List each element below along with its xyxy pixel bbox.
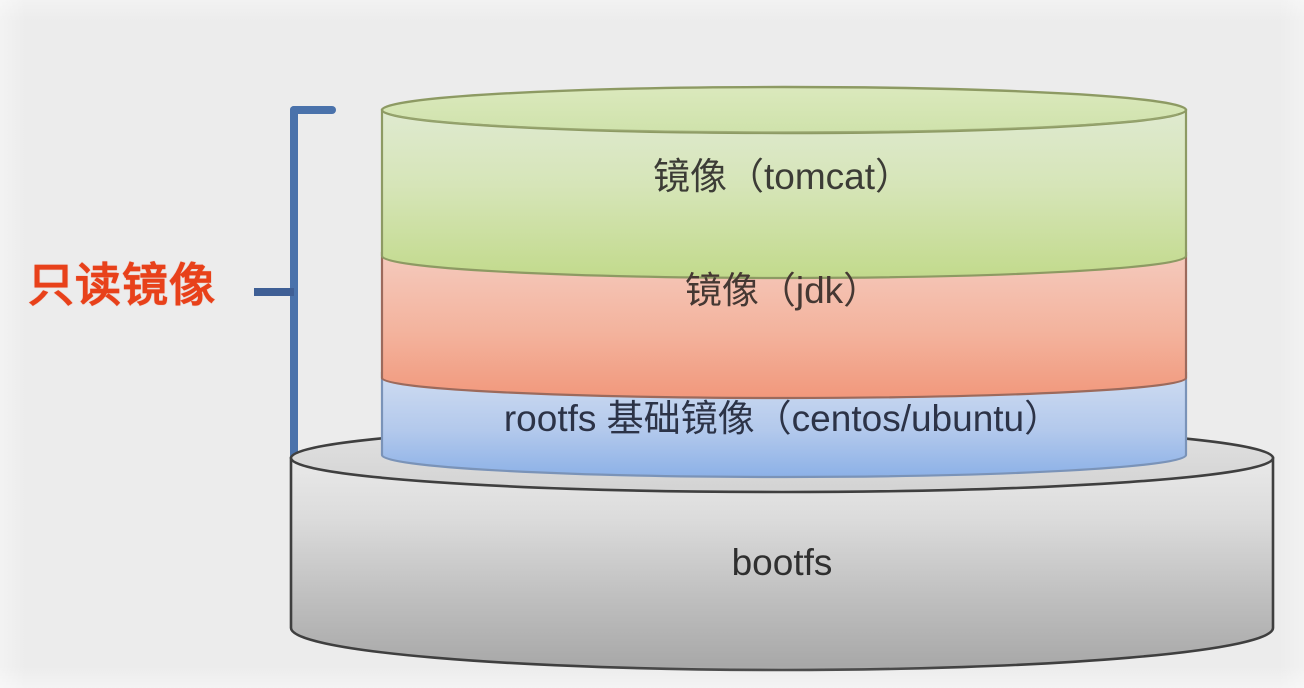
diagram-canvas: 只读镜像 (0, 0, 1304, 688)
layer-label-jdk: 镜像（jdk） (385, 272, 1180, 309)
layer-label-rootfs: rootfs 基础镜像（centos/ubuntu） (385, 400, 1180, 437)
readonly-image-label: 只读镜像 (28, 262, 248, 308)
layer-label-bootfs: bootfs (292, 544, 1272, 581)
layer-label-tomcat: 镜像（tomcat） (385, 158, 1180, 195)
